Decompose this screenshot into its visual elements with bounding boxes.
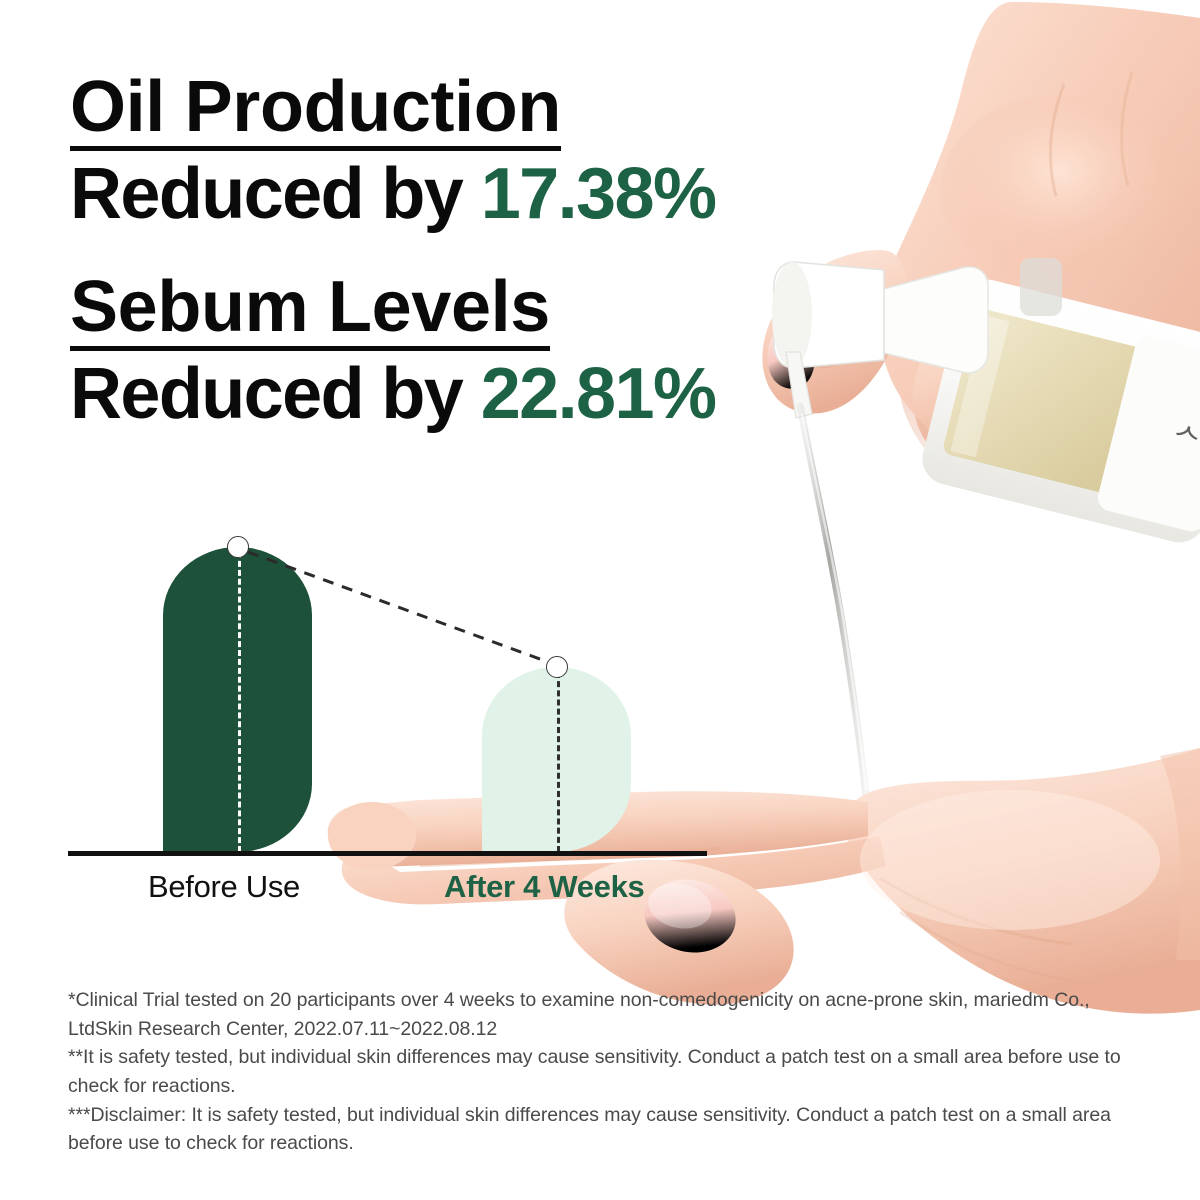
- axis-label-before-use: Before Use: [148, 869, 300, 905]
- headline-value-oil-production: 17.38%: [481, 154, 716, 234]
- headline-block: Oil Production Reduced by 17.38% Sebum L…: [70, 74, 715, 429]
- headline-row-4: Reduced by 22.81%: [70, 361, 715, 429]
- headline-value-sebum-levels: 22.81%: [481, 354, 716, 434]
- marker-before-use: [227, 536, 249, 558]
- footnote-block: *Clinical Trial tested on 20 participant…: [68, 986, 1136, 1158]
- headline-title-sebum-levels: Sebum Levels: [70, 274, 550, 351]
- promo-infographic: ᄉ: [0, 0, 1200, 1200]
- footnote-safety-test: **It is safety tested, but individual sk…: [68, 1043, 1136, 1100]
- chart-baseline: [68, 851, 707, 856]
- headline-prefix-1: Reduced by: [70, 154, 481, 234]
- axis-label-after-4-weeks: After 4 Weeks: [444, 869, 644, 905]
- headline-row-1: Oil Production: [70, 74, 715, 151]
- headline-prefix-2: Reduced by: [70, 354, 481, 434]
- footnote-clinical-trial: *Clinical Trial tested on 20 participant…: [68, 986, 1136, 1043]
- footnote-disclaimer: ***Disclaimer: It is safety tested, but …: [68, 1101, 1136, 1158]
- headline-title-oil-production: Oil Production: [70, 74, 561, 151]
- headline-row-3: Sebum Levels: [70, 274, 715, 351]
- marker-after-4-weeks: [546, 656, 568, 678]
- connector-dashed-segment: [248, 552, 548, 662]
- headline-row-2: Reduced by 17.38%: [70, 161, 715, 229]
